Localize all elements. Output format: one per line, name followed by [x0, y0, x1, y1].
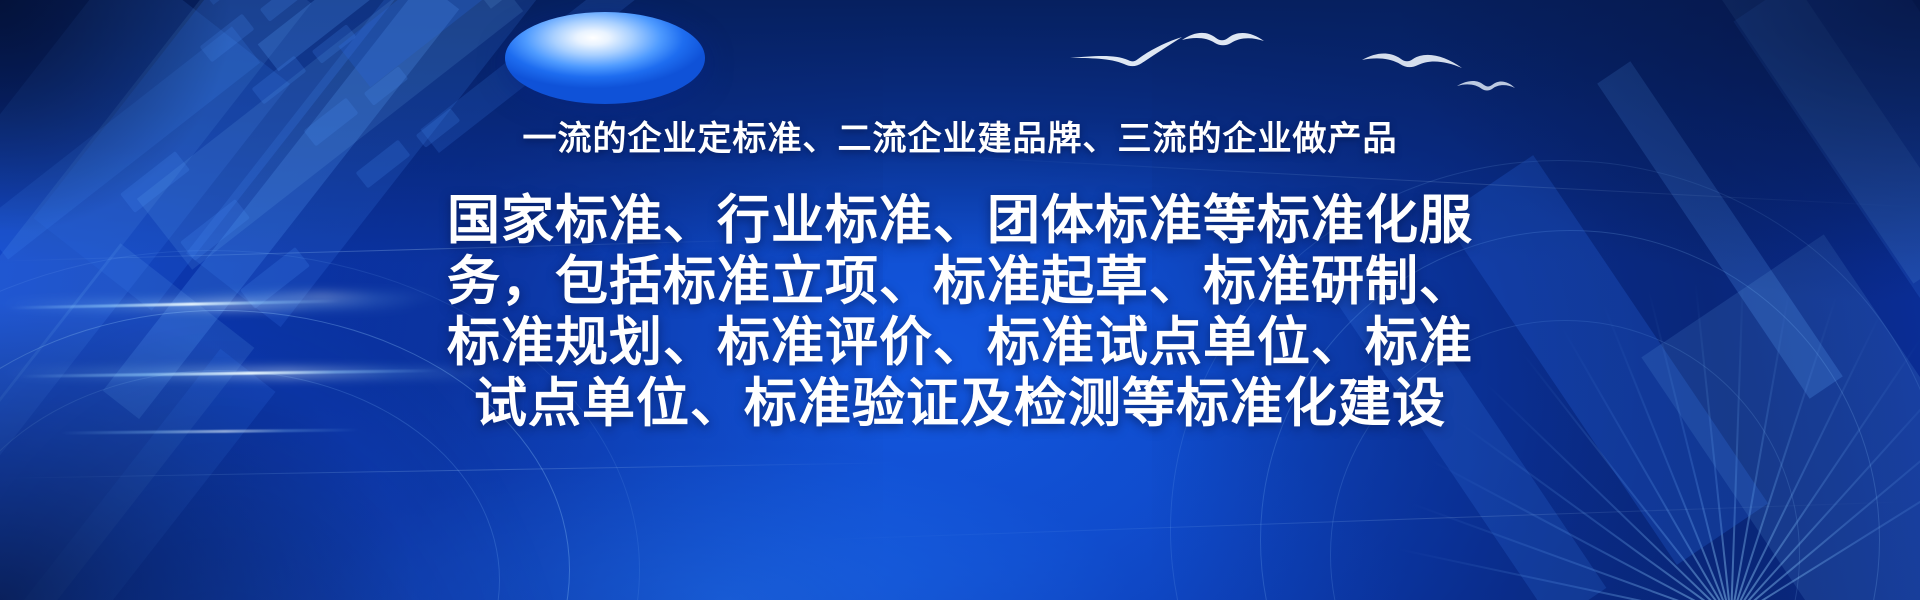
- seagull-icon: [1180, 28, 1266, 62]
- corner-shade-top-left: [0, 0, 230, 230]
- seagull-icon: [1455, 78, 1517, 104]
- corner-shade-bottom-left: [0, 300, 420, 600]
- banner-body-line: 国家标准、行业标准、团体标准等标准化服: [443, 190, 1478, 251]
- banner-body-line: 标准规划、标准评价、标准试点单位、标准: [443, 312, 1478, 373]
- banner-body: 国家标准、行业标准、团体标准等标准化服 务，包括标准立项、标准起草、标准研制、 …: [443, 190, 1478, 434]
- seagull-icon: [1068, 34, 1184, 74]
- banner-headline: 一流的企业定标准、二流企业建品牌、三流的企业做产品: [0, 120, 1920, 159]
- seagull-icon: [1360, 50, 1464, 88]
- banner-body-line: 务，包括标准立项、标准起草、标准研制、: [443, 251, 1478, 312]
- banner-canvas: 一流的企业定标准、二流企业建品牌、三流的企业做产品 国家标准、行业标准、团体标准…: [0, 0, 1920, 600]
- banner-body-line: 试点单位、标准验证及检测等标准化建设: [443, 373, 1478, 434]
- glossy-orb: [505, 12, 705, 104]
